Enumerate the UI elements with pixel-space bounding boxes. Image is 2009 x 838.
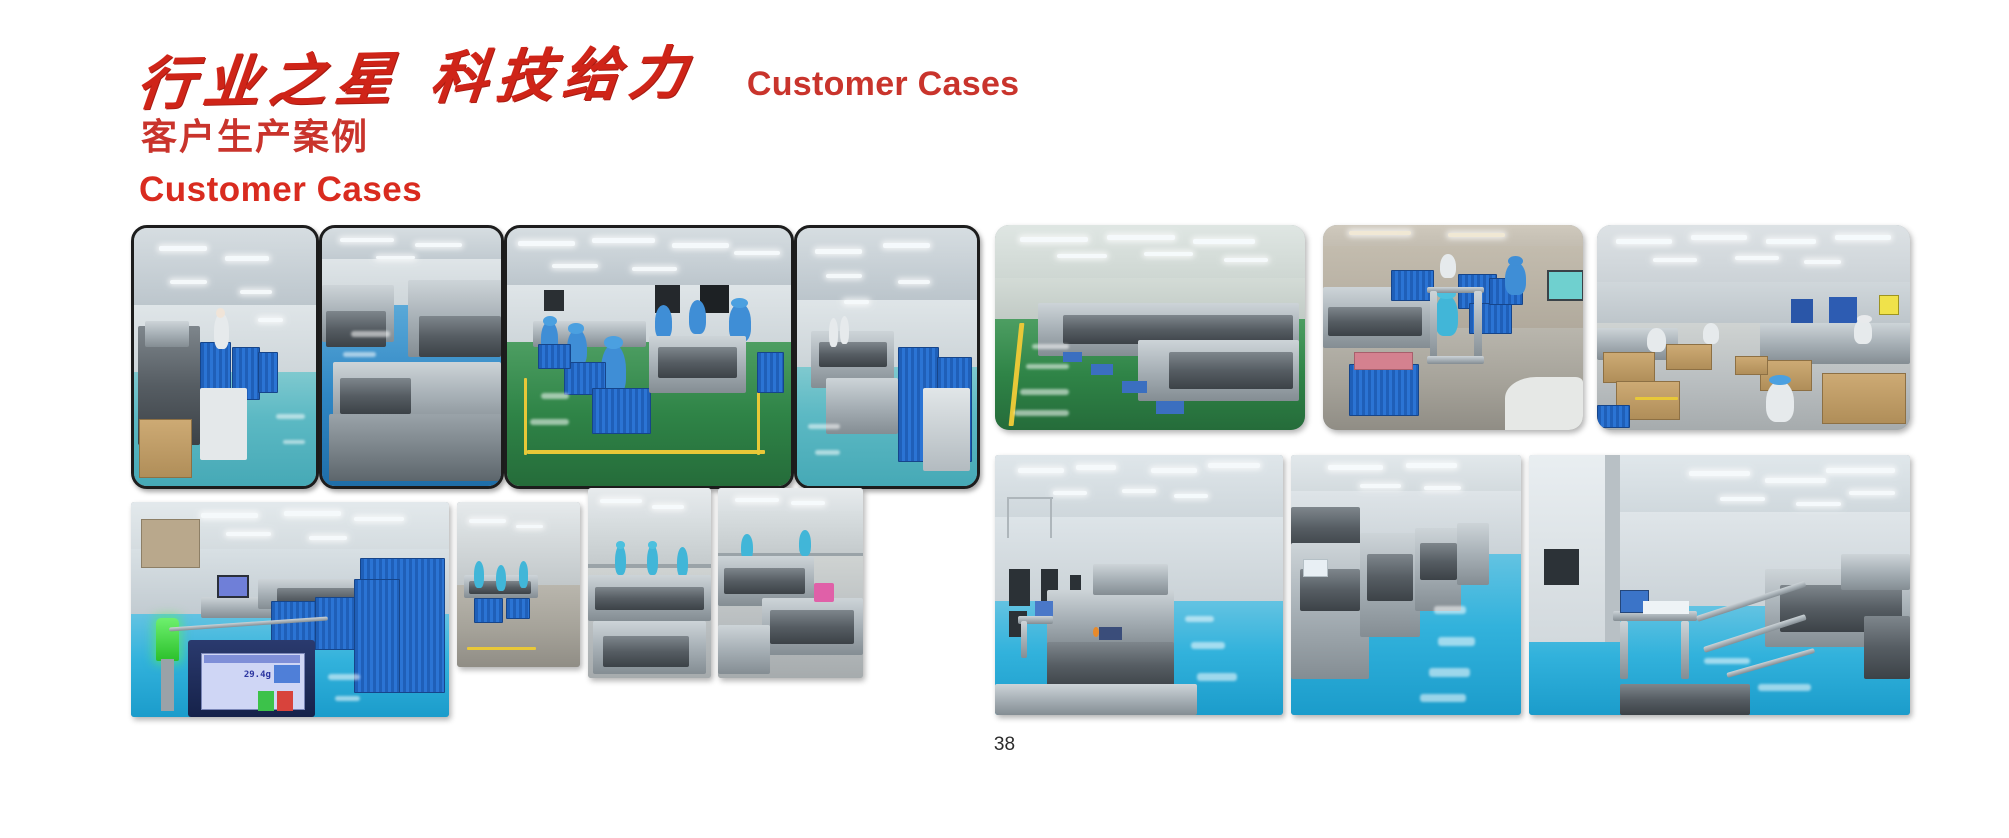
gallery-photo-11[interactable] (718, 488, 863, 678)
title-primary-line: 行业之星 科技给力 Customer Cases (138, 50, 1019, 107)
photo-13-scene (1291, 455, 1521, 715)
photo-3-scene (507, 228, 791, 486)
photo-2-scene (322, 228, 501, 486)
gallery-photo-3[interactable] (504, 225, 794, 489)
page-number: 38 (0, 734, 2009, 756)
gallery-photo-6[interactable] (1323, 225, 1583, 430)
photo-11-scene (718, 488, 863, 678)
gallery-photo-5[interactable] (995, 225, 1305, 430)
gallery-photo-13[interactable] (1291, 455, 1521, 715)
photo-10-scene (588, 488, 711, 678)
photo-8-scene: 29.4g (131, 502, 449, 717)
gallery-photo-1[interactable] (131, 225, 319, 489)
gallery-photo-9[interactable] (457, 502, 580, 667)
photo-1-scene (134, 228, 316, 486)
photo-5-scene (995, 225, 1305, 430)
gallery-photo-4[interactable] (794, 225, 980, 489)
photo-4-scene (797, 228, 977, 486)
gallery-photo-8[interactable]: 29.4g (131, 502, 449, 717)
photo-12-scene (995, 455, 1283, 715)
checkweigher-reading: 29.4g (207, 665, 271, 684)
headline-en-light: Customer Cases (747, 67, 1020, 101)
photo-7-scene (1597, 225, 1910, 430)
photo-6-scene (1323, 225, 1583, 430)
gallery-photo-10[interactable] (588, 488, 711, 678)
photo-14-scene (1529, 455, 1910, 715)
gallery-photo-2[interactable] (319, 225, 504, 489)
calligraphy-headline-cn: 行业之星 科技给力 (134, 44, 698, 113)
slide-title-block: 行业之星 科技给力 Customer Cases 客户生产案例 Customer… (138, 50, 1138, 210)
gallery-photo-7[interactable] (1597, 225, 1910, 430)
gallery-photo-12[interactable] (995, 455, 1283, 715)
gallery-photo-14[interactable] (1529, 455, 1910, 715)
subtitle-cn: 客户生产案例 (141, 120, 369, 156)
headline-en-bold: Customer Cases (139, 172, 422, 207)
photo-9-scene (457, 502, 580, 667)
